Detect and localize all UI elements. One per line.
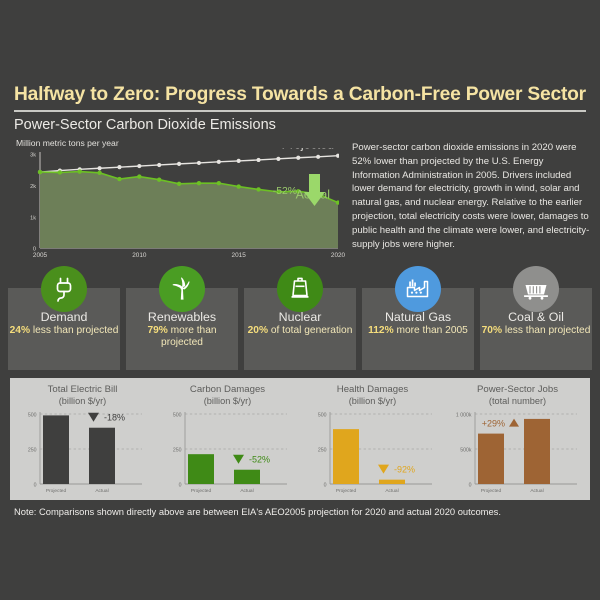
mini-y-tick-label: 0	[179, 482, 182, 488]
projected-data-point	[117, 165, 121, 169]
stat-card-description: 24% less than projected	[10, 325, 119, 337]
mini-chart-carbon-damages: Carbon Damages(billion $/yr)0250500Proje…	[155, 378, 300, 500]
bar-category-label: Projected	[191, 488, 212, 494]
actual-data-point	[177, 182, 181, 186]
nuclear-cooling-tower-icon	[277, 266, 323, 312]
x-tick-label: 2005	[33, 252, 47, 259]
stat-card-value: 112%	[368, 325, 394, 336]
mini-y-tick-label: 0	[34, 482, 37, 488]
bar-category-label: Actual	[240, 488, 253, 494]
y-tick-label: 2k	[30, 184, 36, 190]
mini-chart-health-damages: Health Damages(billion $/yr)0250500Proje…	[300, 378, 445, 500]
stat-card-value: 24%	[10, 325, 30, 336]
wind-turbine-icon	[159, 266, 205, 312]
bar	[379, 480, 405, 484]
stat-card-renewables[interactable]: Renewables79% more than projected	[126, 288, 238, 370]
x-tick-label: 2010	[132, 252, 146, 259]
bar-category-label: Actual	[530, 488, 543, 494]
mini-y-tick-label: 0	[469, 482, 472, 488]
mini-chart-power-sector-jobs: Power-Sector Jobs(total number)0500k1 00…	[445, 378, 590, 500]
projected-data-point	[237, 159, 241, 163]
bar	[333, 429, 359, 484]
bar-category-label: Actual	[385, 488, 398, 494]
actual-data-point	[157, 177, 161, 181]
actual-data-point	[117, 177, 121, 181]
stat-card-value: 79%	[147, 325, 167, 336]
stat-card-coal-oil[interactable]: Coal & Oil70% less than projected	[480, 288, 592, 370]
stat-card-description: 20% of total generation	[248, 325, 353, 337]
stat-card-title: Renewables	[148, 310, 216, 324]
projected-data-point	[98, 166, 102, 170]
bar-category-label: Projected	[481, 488, 502, 494]
bar	[188, 454, 214, 484]
projected-series-label: Projected	[282, 148, 334, 152]
mini-y-tick-label: 250	[318, 447, 327, 453]
stat-card-qualifier: less than projected	[502, 325, 590, 336]
stat-card-description: 112% more than 2005	[368, 325, 468, 337]
bar-category-label: Projected	[46, 488, 67, 494]
down-triangle-icon	[88, 413, 99, 422]
stat-cards-row: Demand24% less than projectedRenewables7…	[8, 288, 592, 370]
down-triangle-icon	[378, 465, 389, 474]
stat-card-value: 70%	[482, 325, 502, 336]
bar	[524, 419, 550, 484]
delta-label: -52%	[249, 455, 270, 465]
mini-y-tick-label: 500	[318, 412, 327, 418]
actual-data-point	[97, 171, 101, 175]
projected-data-point	[197, 161, 201, 165]
infographic-poster: Halfway to Zero: Progress Towards a Carb…	[0, 0, 600, 600]
bar	[43, 415, 69, 484]
projected-data-point	[256, 158, 260, 162]
stat-card-title: Nuclear	[279, 310, 322, 324]
down-triangle-icon	[233, 455, 244, 464]
delta-label: -18%	[104, 413, 125, 423]
bar-category-label: Projected	[336, 488, 357, 494]
projected-data-point	[276, 157, 280, 161]
stat-card-description: 70% less than projected	[482, 325, 591, 337]
chart-y-axis-title: Million metric tons per year	[16, 138, 119, 148]
mini-y-tick-label: 1 000k	[456, 412, 472, 418]
bar-category-label: Actual	[95, 488, 108, 494]
emissions-chart-x-axis: 2005201020152020	[14, 252, 339, 264]
stat-card-nuclear[interactable]: Nuclear20% of total generation	[244, 288, 356, 370]
actual-data-point	[38, 170, 42, 174]
stat-card-natural-gas[interactable]: Natural Gas112% more than 2005	[362, 288, 474, 370]
stat-card-title: Demand	[41, 310, 88, 324]
actual-data-point	[137, 174, 141, 178]
page-title: Halfway to Zero: Progress Towards a Carb…	[14, 84, 586, 106]
up-triangle-icon	[509, 419, 519, 427]
stat-card-title: Coal & Oil	[508, 310, 564, 324]
footnote: Note: Comparisons shown directly above a…	[14, 506, 501, 517]
plug-icon	[41, 266, 87, 312]
x-tick-label: 2015	[232, 252, 246, 259]
projected-data-point	[217, 160, 221, 164]
stat-card-value: 20%	[248, 325, 268, 336]
delta-label: +29%	[482, 419, 505, 429]
section-heading: Power-Sector Carbon Dioxide Emissions	[14, 117, 276, 133]
projected-data-point	[336, 154, 339, 158]
actual-data-point	[256, 187, 260, 191]
factory-icon	[395, 266, 441, 312]
mini-y-tick-label: 500	[28, 412, 37, 418]
stat-card-description: 79% more than projected	[126, 325, 238, 349]
mini-y-tick-label: 0	[324, 482, 327, 488]
mini-y-tick-label: 500	[173, 412, 182, 418]
mini-y-tick-label: 250	[173, 447, 182, 453]
stat-card-title: Natural Gas	[385, 310, 451, 324]
projected-data-point	[316, 155, 320, 159]
stat-card-qualifier: less than projected	[30, 325, 118, 336]
projected-line	[40, 156, 338, 172]
actual-data-point	[236, 184, 240, 188]
stat-card-qualifier: more than 2005	[394, 325, 468, 336]
bar	[234, 470, 260, 484]
delta-label: -92%	[394, 465, 415, 475]
y-tick-label: 3k	[30, 153, 36, 159]
projected-data-point	[137, 164, 141, 168]
stat-card-qualifier: of total generation	[268, 325, 352, 336]
actual-data-point	[197, 181, 201, 185]
projected-data-point	[296, 156, 300, 160]
coal-hopper-icon	[513, 266, 559, 312]
bar	[89, 428, 115, 484]
mini-y-tick-label: 500k	[460, 447, 472, 453]
title-block: Halfway to Zero: Progress Towards a Carb…	[14, 84, 586, 112]
projected-data-point	[177, 162, 181, 166]
percent-change-annotation: -52%	[273, 186, 297, 197]
actual-data-point	[78, 169, 82, 173]
summary-paragraph: Power-sector carbon dioxide emissions in…	[352, 141, 592, 252]
y-tick-label: 1k	[30, 215, 36, 221]
mini-chart-total-electric-bill: Total Electric Bill(billion $/yr)0250500…	[10, 378, 155, 500]
bar	[478, 434, 504, 484]
stat-card-demand[interactable]: Demand24% less than projected	[8, 288, 120, 370]
x-tick-label: 2020	[331, 252, 345, 259]
comparison-charts-panel: Total Electric Bill(billion $/yr)0250500…	[10, 378, 590, 500]
actual-data-point	[217, 181, 221, 185]
stat-card-qualifier: more than projected	[161, 325, 217, 348]
emissions-line-chart: 01k2k3kProjectedActual-52%	[14, 148, 339, 258]
actual-data-point	[58, 170, 62, 174]
mini-y-tick-label: 250	[28, 447, 37, 453]
title-divider	[14, 110, 586, 112]
projected-data-point	[157, 163, 161, 167]
